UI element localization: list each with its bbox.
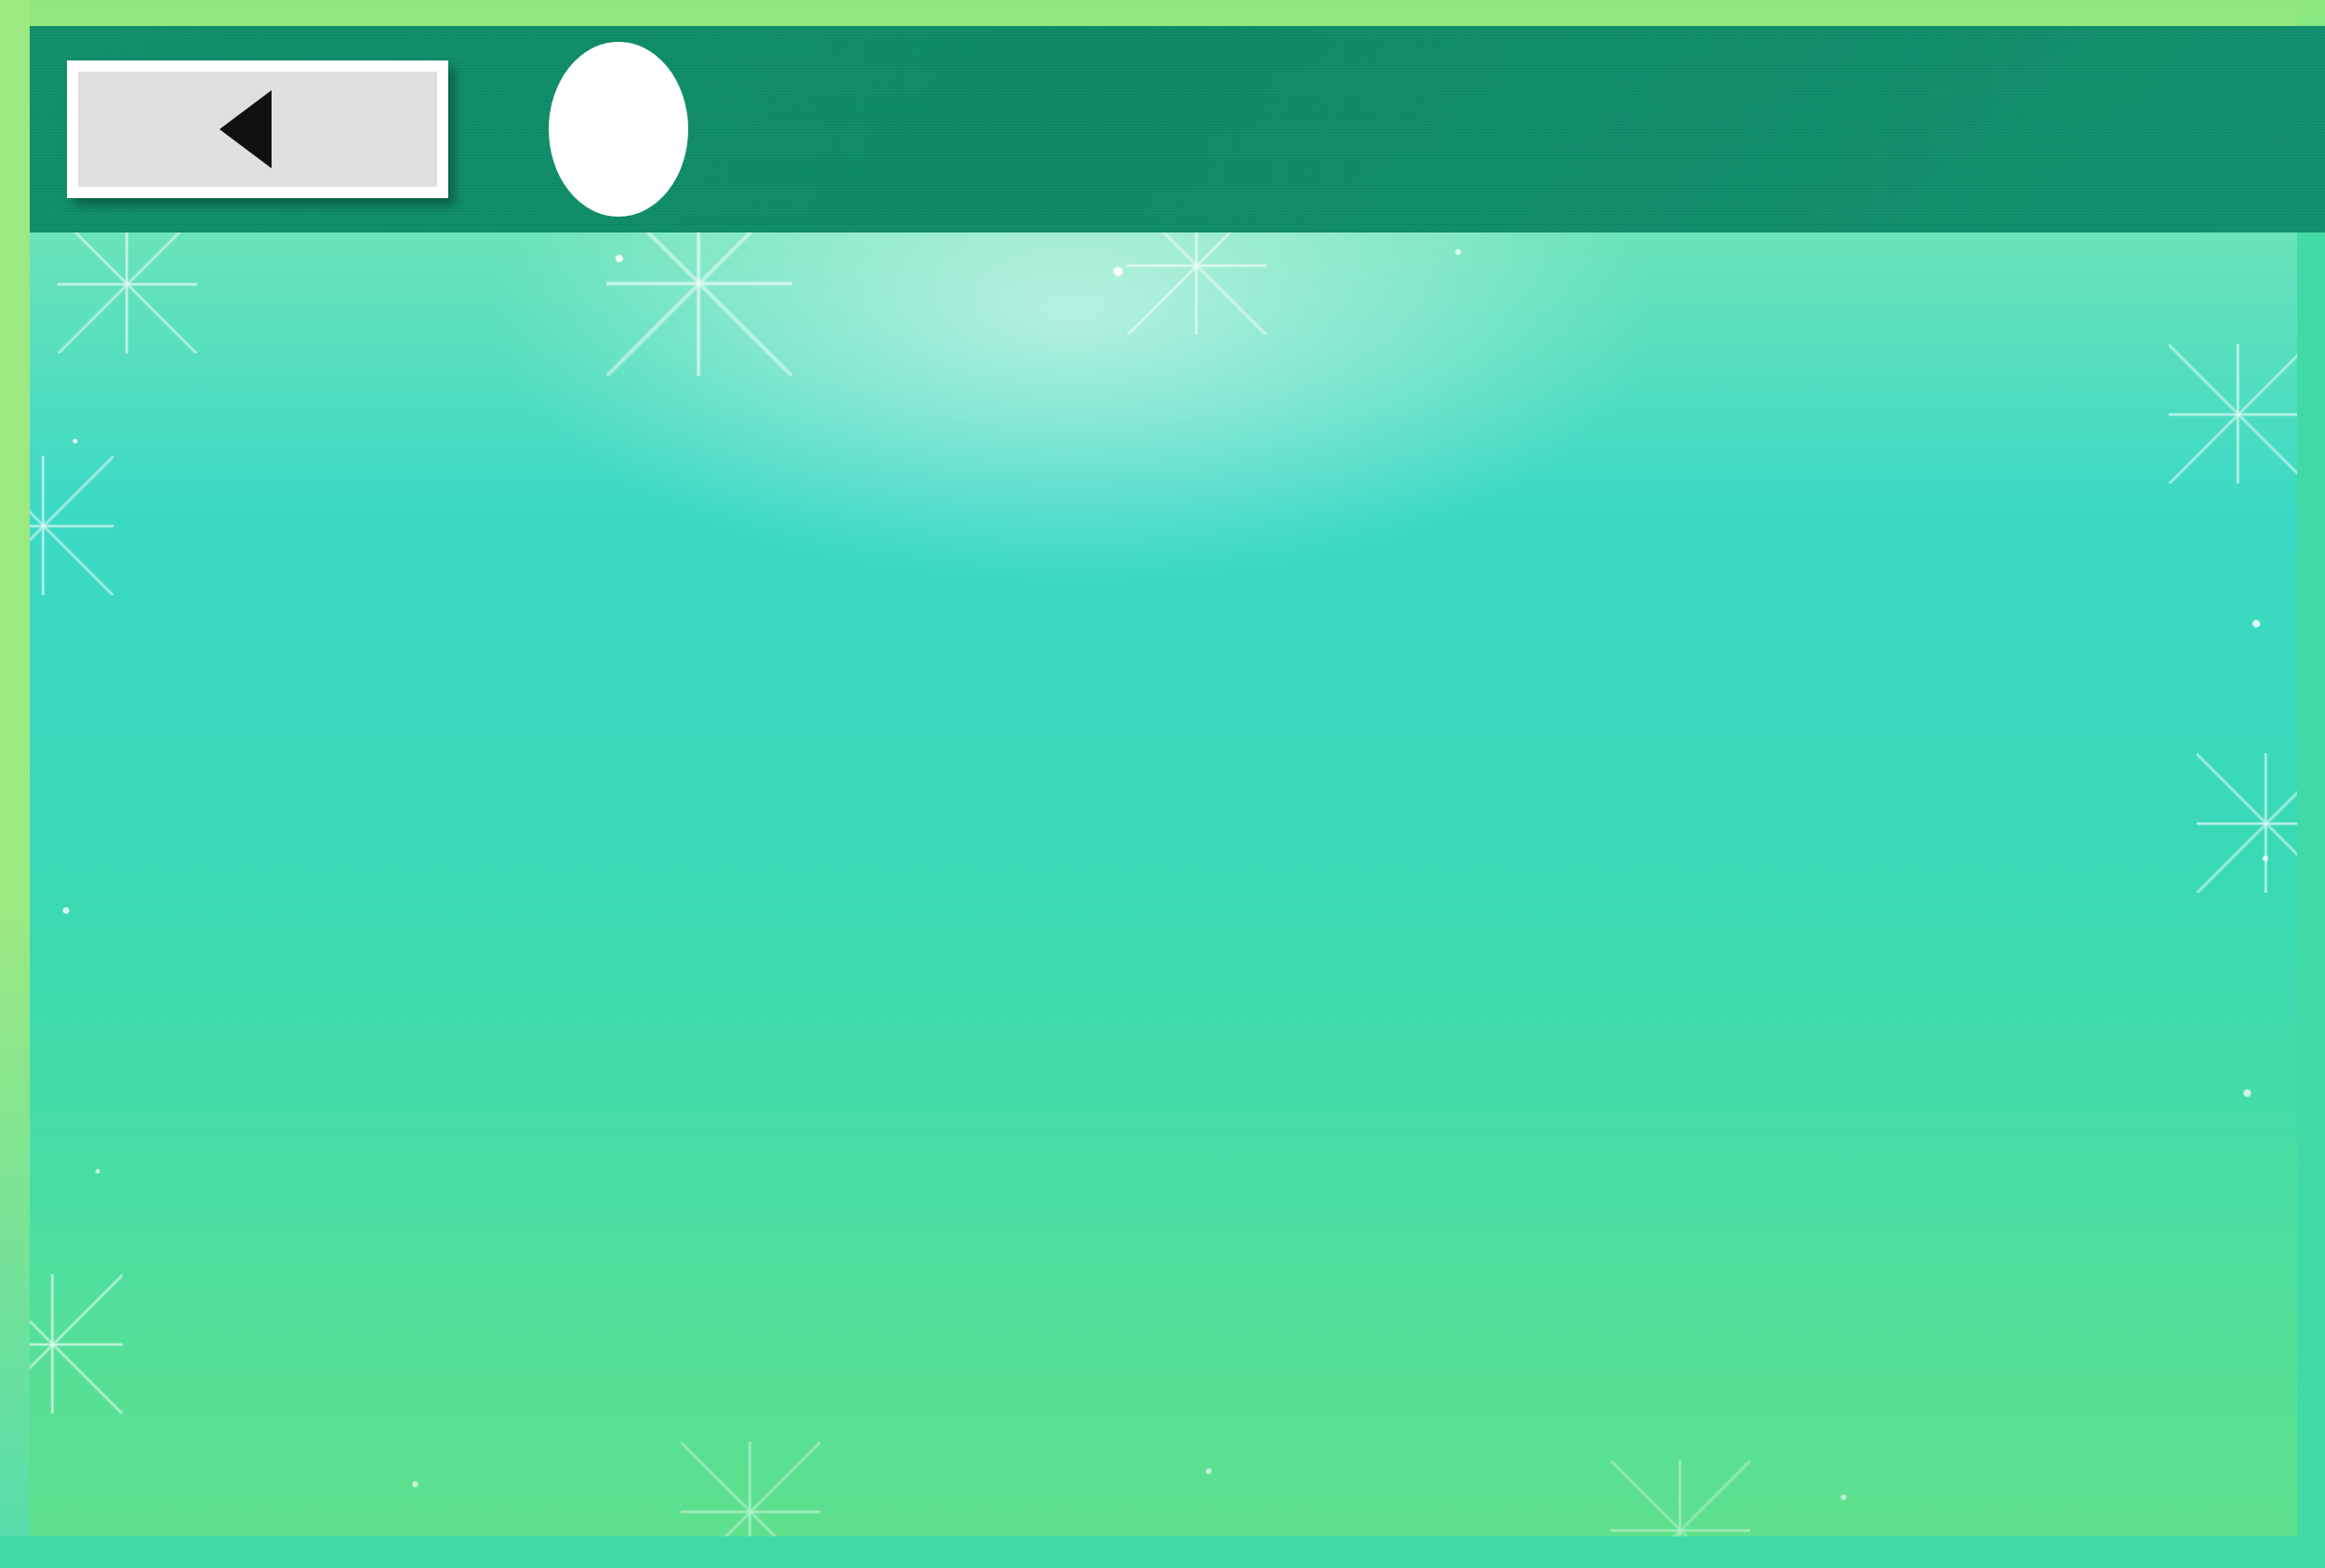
page-header [30,26,2325,233]
back-triangle-icon [219,90,272,168]
page-root [0,0,2325,1568]
menu-tile-grid [30,233,2297,1520]
course-badge [549,42,688,217]
left-edge-strip [0,0,30,1568]
right-edge-strip [2297,0,2325,1568]
bottom-edge-strip [0,1536,2325,1568]
content-stage [30,233,2297,1536]
back-button[interactable] [67,60,448,198]
